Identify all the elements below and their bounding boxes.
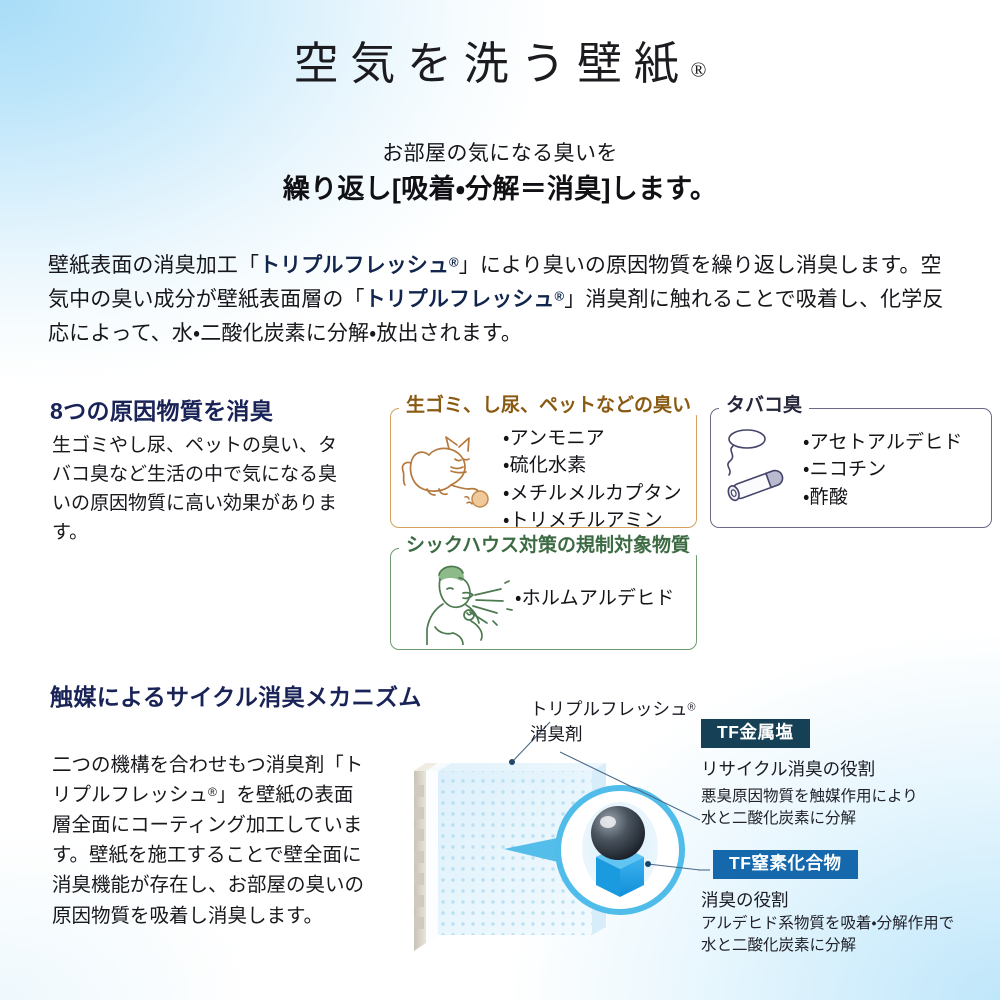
lead-part-1: 壁紙表面の消臭加工「: [48, 254, 259, 277]
odor-box-sickhouse-list: ・ホルムアルデヒド: [515, 585, 675, 612]
section-2-body: 二つの機構を合わせもつ消臭剤「トリプルフレッシュ®」を壁紙の表面層全面にコーティ…: [52, 750, 372, 931]
coughing-person-icon: [413, 559, 517, 645]
callout-desc-line: 水と二酸化炭素に分解: [701, 935, 954, 957]
callout-desc-tf-nitrogen-compound: アルデヒド系物質を吸着・分解作用で 水と二酸化炭素に分解: [701, 913, 954, 958]
odor-box-tobacco-label: タバコ臭: [719, 396, 809, 415]
list-item: ・アンモニア: [503, 425, 682, 452]
lead-brand-2: トリプルフレッシュ®: [365, 288, 565, 311]
cat-icon: [399, 425, 499, 511]
callout-desc-tf-metal-salt: 悪臭原因物質を触媒作用により 水と二酸化炭素に分解: [701, 786, 918, 831]
lead-paragraph: 壁紙表面の消臭加工「トリプルフレッシュ®」により臭いの原因物質を繰り返し消臭しま…: [48, 249, 953, 351]
page-title: 空気を洗う壁紙®: [0, 40, 1000, 90]
lead-brand-2-reg: ®: [555, 289, 565, 304]
section-2-heading: 触媒によるサイクル消臭メカニズム: [50, 678, 422, 712]
page-title-text: 空気を洗う壁紙: [294, 39, 691, 89]
subtitle-line-1: お部屋の気になる臭いを: [0, 140, 1000, 167]
odor-box-tobacco: タバコ臭 ・アセトアルデヒド ・ニコチン ・酢酸: [710, 408, 992, 528]
odor-box-tobacco-list: ・アセトアルデヒド ・ニコチン ・酢酸: [803, 429, 963, 511]
cigarette-icon: [717, 427, 801, 507]
diagram-caption-line-1: トリプルフレッシュ®: [530, 697, 696, 722]
diagram-caption: トリプルフレッシュ® 消臭剤: [530, 697, 696, 747]
lead-brand-1-text: トリプルフレッシュ: [259, 254, 449, 277]
list-item: ・酢酸: [803, 484, 963, 511]
odor-box-kitchen: 生ゴミ、し尿、ペットなどの臭い ・アンモニア ・硫化水素 ・メチルメルカプタン …: [390, 408, 697, 528]
registered-mark: ®: [690, 57, 706, 81]
subtitle-block: お部屋の気になる臭いを 繰り返し[吸着・分解＝消臭]します。: [0, 140, 1000, 208]
title-block: 空気を洗う壁紙®: [0, 40, 1000, 90]
callout-desc-line: 悪臭原因物質を触媒作用により: [701, 786, 918, 808]
badge-tf-metal-salt: TF金属塩: [701, 719, 810, 748]
lead-brand-2-text: トリプルフレッシュ: [365, 288, 555, 311]
odor-box-sickhouse: シックハウス対策の規制対象物質 ・ホルムアルデヒド: [390, 548, 697, 650]
section-1-body: 生ゴミやし尿、ペットの臭い、タバコ臭など生活の中で気になる臭いの原因物質に高い効…: [52, 432, 352, 548]
list-item: ・ニコチン: [803, 456, 963, 483]
diagram-caption-line-2: 消臭剤: [530, 722, 696, 747]
list-item: ・硫化水素: [503, 452, 682, 479]
section-1-heading: 8つの原因物質を消臭: [50, 392, 273, 426]
badge-tf-nitrogen-compound: TF窒素化合物: [713, 850, 858, 879]
subtitle-line-2: 繰り返し[吸着・分解＝消臭]します。: [0, 171, 1000, 207]
list-item: ・ホルムアルデヒド: [515, 585, 675, 612]
list-item: ・トリメチルアミン: [503, 507, 682, 534]
diagram-caption-brand: トリプルフレッシュ: [530, 699, 688, 719]
diagram-caption-reg: ®: [688, 701, 696, 713]
callout-desc-line: 水と二酸化炭素に分解: [701, 808, 918, 830]
callout-role-tf-nitrogen-compound: 消臭の役割: [701, 888, 789, 913]
lead-brand-1: トリプルフレッシュ®: [259, 254, 459, 277]
callout-desc-line: アルデヒド系物質を吸着・分解作用で: [701, 913, 954, 935]
odor-box-kitchen-list: ・アンモニア ・硫化水素 ・メチルメルカプタン ・トリメチルアミン: [503, 425, 682, 534]
lead-brand-1-reg: ®: [449, 255, 459, 270]
section-2-body-reg: ®: [208, 785, 217, 799]
odor-box-sickhouse-label: シックハウス対策の規制対象物質: [399, 536, 697, 555]
odor-box-kitchen-label: 生ゴミ、し尿、ペットなどの臭い: [399, 396, 698, 415]
list-item: ・メチルメルカプタン: [503, 480, 682, 507]
list-item: ・アセトアルデヒド: [803, 429, 963, 456]
callout-role-tf-metal-salt: リサイクル消臭の役割: [701, 757, 875, 782]
